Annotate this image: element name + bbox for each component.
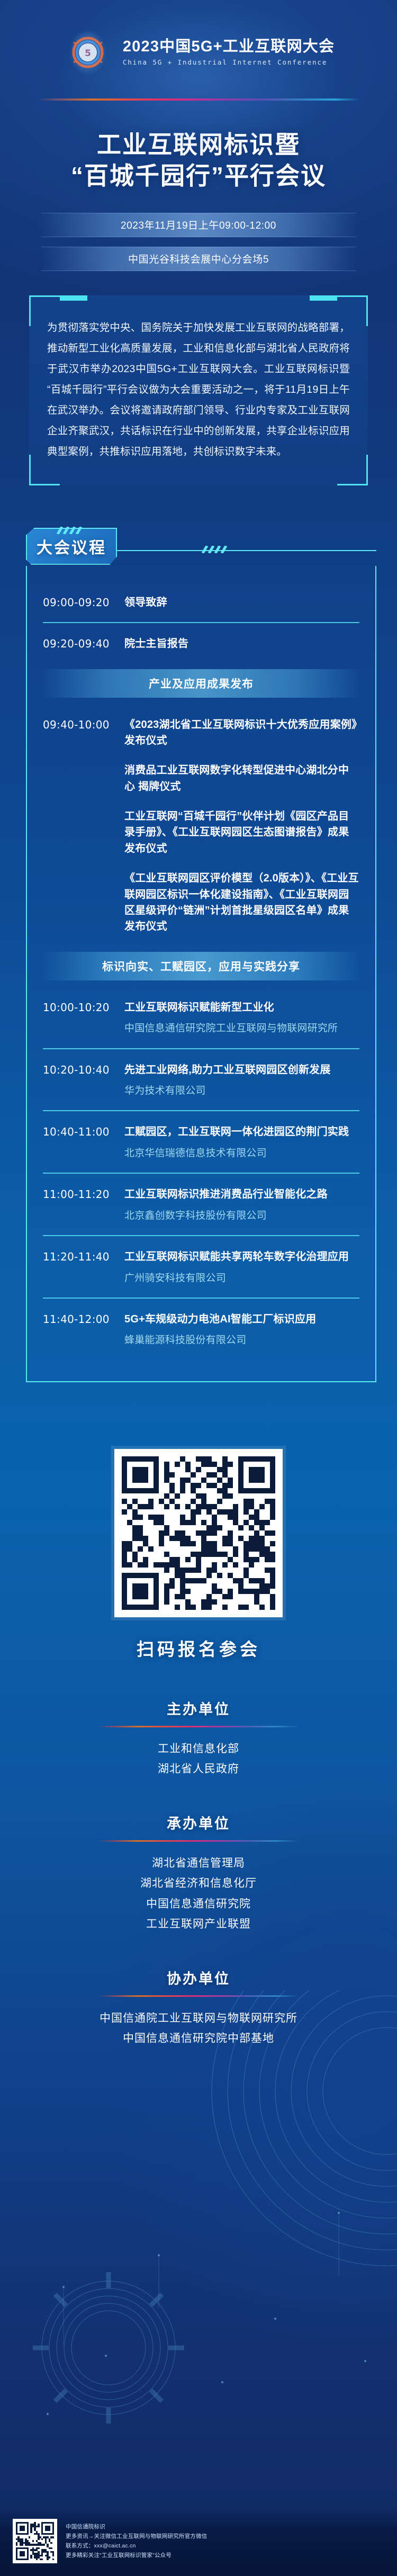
agenda-row-time: 11:20-11:40 — [43, 1249, 113, 1265]
organizer-item: 中国信息通信研究院 — [0, 1894, 397, 1914]
intro-paragraph: 为贯彻落实党中央、国务院关于加快发展工业互联网的战略部署，推动新型工业化高质量发… — [47, 318, 350, 462]
agenda-row-time: 10:20-10:40 — [43, 1062, 113, 1078]
agenda-row-separator — [43, 1048, 359, 1049]
agenda-row-main: 领导致辞 — [124, 595, 359, 610]
poster-footer: 中国信通院标识 更多资讯→关注微信工业互联网与物联网研究所官方微信 联系方式：x… — [0, 2506, 397, 2576]
agenda-row-organization: 北京华信瑞德信息技术有限公司 — [124, 1146, 359, 1161]
agenda-row: 09:20-09:40院士主旨报告 — [41, 623, 362, 663]
intro-frame: 为贯彻落实党中央、国务院关于加快发展工业互联网的战略部署，推动新型工业化高质量发… — [29, 295, 368, 485]
agenda-row-separator — [43, 622, 359, 623]
decorative-gear-icon — [21, 2260, 196, 2435]
agenda-row-title: 《2023湖北省工业互联网标识十大优秀应用案例》发布仪式 — [124, 717, 359, 749]
agenda-row: 11:40-12:005G+车规级动力电池AI智能工厂标识应用蜂巢能源科技股份有… — [41, 1299, 362, 1360]
organizer-item: 中国信息通信研究院中部基地 — [0, 2029, 397, 2049]
agenda-row-title: 工业互联网标识推进消费品行业智能化之路 — [124, 1186, 359, 1202]
agenda-row: 09:40-10:00《2023湖北省工业互联网标识十大优秀应用案例》发布仪式消… — [41, 704, 362, 947]
qr-code-icon — [122, 1456, 275, 1610]
organizer-group: 承办单位湖北省通信管理局湖北省经济和信息化厅中国信息通信研究院工业互联网产业联盟 — [0, 1812, 397, 1934]
agenda-row-time: 10:40-11:00 — [43, 1124, 113, 1140]
organizer-item: 湖北省通信管理局 — [0, 1853, 397, 1874]
agenda-row-time: 09:20-09:40 — [43, 636, 113, 652]
agenda-row: 09:00-09:20领导致辞 — [41, 582, 362, 622]
hatch-right-icon — [201, 546, 232, 553]
header-divider — [37, 98, 360, 101]
agenda-row: 10:00-10:20工业互联网标识赋能新型工业化中国信息通信研究院工业互联网与… — [41, 987, 362, 1048]
agenda-row-organization: 蜂巢能源科技股份有限公司 — [124, 1332, 359, 1348]
event-datetime-badge: 2023年11月19日上午09:00-12:00 — [41, 213, 356, 237]
organizer-group-title: 主办单位 — [0, 1698, 397, 1718]
footer-line-4: 更多精彩关注“工业互联网标识管家”公众号 — [66, 2551, 207, 2560]
organizer-divider — [98, 1726, 299, 1727]
organizer-group: 协办单位中国信通院工业互联网与物联网研究所中国信息通信研究院中部基地 — [0, 1967, 397, 2049]
title-line-1: 工业互联网标识暨 — [0, 129, 397, 160]
agenda-row-title: 先进工业网络,助力工业互联网园区创新发展 — [124, 1062, 359, 1078]
agenda-top-rule — [117, 550, 376, 551]
organizer-item: 工业和信息化部 — [0, 1739, 397, 1759]
agenda-row-title: 工业互联网“百城千园行”伙伴计划《园区产品目录手册》、《工业互联网园区生态图谱报… — [124, 808, 359, 857]
conference-poster: 5 2023中国5G+工业互联网大会 China 5G + Industrial… — [0, 0, 397, 2576]
brand-row: 5 2023中国5G+工业互联网大会 China 5G + Industrial… — [0, 21, 397, 84]
agenda-row-title: 5G+车规级动力电池AI智能工厂标识应用 — [124, 1311, 359, 1327]
organizer-group-title: 承办单位 — [0, 1812, 397, 1833]
event-venue-badge: 中国光谷科技会展中心分会场5 — [41, 247, 356, 271]
agenda-row-time: 09:40-10:00 — [43, 717, 113, 733]
agenda-row-separator — [43, 1110, 359, 1111]
organizer-item: 中国信通院工业互联网与物联网研究所 — [0, 2008, 397, 2029]
agenda-row-separator — [43, 1235, 359, 1236]
qr-caption: 扫码报名参会 — [94, 1635, 303, 1661]
registration-section: 扫码报名参会 — [0, 1433, 397, 1661]
agenda-row-title: 消费品工业互联网数字化转型促进中心湖北分中心 揭牌仪式 — [124, 762, 359, 795]
organizer-item: 湖北省人民政府 — [0, 1759, 397, 1779]
agenda-row: 10:40-11:00工赋园区，工业互联网一体化进园区的荆门实践北京华信瑞德信息… — [41, 1111, 362, 1173]
agenda-row-main: 工赋园区，工业互联网一体化进园区的荆门实践北京华信瑞德信息技术有限公司 — [124, 1124, 359, 1161]
agenda-row: 11:20-11:40工业互联网标识赋能共享两轮车数字化治理应用广州骑安科技有限… — [41, 1236, 362, 1298]
agenda-row-main: 工业互联网标识赋能新型工业化中国信息通信研究院工业互联网与物联网研究所 — [124, 999, 359, 1037]
organizer-divider — [98, 1995, 299, 1997]
agenda-row-title: 工赋园区，工业互联网一体化进园区的荆门实践 — [124, 1124, 359, 1140]
event-meta: 2023年11月19日上午09:00-12:00 中国光谷科技会展中心分会场5 — [0, 213, 397, 271]
footer-qr-code[interactable] — [13, 2519, 57, 2563]
agenda-row-main: 先进工业网络,助力工业互联网园区创新发展华为技术有限公司 — [124, 1062, 359, 1099]
organizer-item: 工业互联网产业联盟 — [0, 1914, 397, 1934]
agenda-section-banner: 产业及应用成果发布 — [41, 669, 362, 698]
agenda-section-banner: 标识向实、工赋园区，应用与实践分享 — [41, 952, 362, 980]
agenda-row: 11:00-11:20工业互联网标识推进消费品行业智能化之路北京鑫创数字科技股份… — [41, 1174, 362, 1235]
organizer-item: 湖北省经济和信息化厅 — [0, 1874, 397, 1894]
organizer-group-title: 协办单位 — [0, 1967, 397, 1988]
brand-text: 2023中国5G+工业互联网大会 China 5G + Industrial I… — [123, 39, 335, 66]
agenda-row-title: 领导致辞 — [124, 595, 359, 610]
organizer-divider — [98, 1840, 299, 1842]
brand-title-en: China 5G + Industrial Internet Conferenc… — [123, 58, 335, 66]
conference-logo: 5 — [62, 21, 113, 84]
agenda-row-title: 工业互联网标识赋能新型工业化 — [124, 999, 359, 1015]
brand-title-cn: 2023中国5G+工业互联网大会 — [123, 39, 335, 56]
agenda-row-title: 工业互联网标识赋能共享两轮车数字化治理应用 — [124, 1249, 359, 1265]
agenda-row-title: 院士主旨报告 — [124, 636, 359, 652]
agenda-row-organization: 北京鑫创数字科技股份有限公司 — [124, 1208, 359, 1223]
footer-text: 中国信通院标识 更多资讯→关注微信工业互联网与物联网研究所官方微信 联系方式：x… — [66, 2522, 207, 2560]
qr-panel: 扫码报名参会 — [94, 1433, 303, 1661]
agenda-row-time: 11:40-12:00 — [43, 1311, 113, 1327]
intro-panel: 为贯彻落实党中央、国务院关于加快发展工业互联网的战略部署，推动新型工业化高质量发… — [29, 295, 368, 485]
agenda-row-main: 工业互联网标识赋能共享两轮车数字化治理应用广州骑安科技有限公司 — [124, 1249, 359, 1286]
agenda-row-organization: 华为技术有限公司 — [124, 1083, 359, 1098]
agenda-row-title: 《工业互联网园区评价模型（2.0版本）》、《工业互联网园区标识一体化建设指南》、… — [124, 870, 359, 935]
agenda-row-main: 《2023湖北省工业互联网标识十大优秀应用案例》发布仪式消费品工业互联网数字化转… — [124, 717, 359, 935]
poster-header: 5 2023中国5G+工业互联网大会 China 5G + Industrial… — [0, 0, 397, 106]
agenda-heading-label: 大会议程 — [37, 535, 106, 558]
notch-right — [310, 295, 337, 301]
organizer-group: 主办单位工业和信息化部湖北省人民政府 — [0, 1698, 397, 1779]
agenda-row-main: 工业互联网标识推进消费品行业智能化之路北京鑫创数字科技股份有限公司 — [124, 1186, 359, 1223]
agenda-row-time: 11:00-11:20 — [43, 1186, 113, 1202]
agenda-row-organization: 广州骑安科技有限公司 — [124, 1271, 359, 1286]
agenda-header: 大会议程 — [21, 527, 376, 566]
footer-line-1: 中国信通院标识 — [66, 2522, 207, 2532]
hatch-left-icon — [56, 527, 87, 534]
agenda-row-main: 5G+车规级动力电池AI智能工厂标识应用蜂巢能源科技股份有限公司 — [124, 1311, 359, 1348]
agenda-row-time: 10:00-10:20 — [43, 999, 113, 1015]
poster-title: 工业互联网标识暨 “百城千园行”平行会议 — [0, 129, 397, 192]
contact-qr-code-icon — [16, 2522, 54, 2560]
organizers-section: 主办单位工业和信息化部湖北省人民政府承办单位湖北省通信管理局湖北省经济和信息化厅… — [0, 1698, 397, 2049]
agenda-row-main: 院士主旨报告 — [124, 636, 359, 652]
agenda-body: 09:00-09:20领导致辞09:20-09:40院士主旨报告产业及应用成果发… — [26, 566, 376, 1382]
footer-line-3: 联系方式：xxx@caict.ac.cn — [66, 2541, 207, 2551]
agenda-row-time: 09:00-09:20 — [43, 595, 113, 610]
agenda-row: 10:20-10:40先进工业网络,助力工业互联网园区创新发展华为技术有限公司 — [41, 1049, 362, 1111]
registration-qr-code[interactable] — [114, 1449, 283, 1617]
footer-line-2: 更多资讯→关注微信工业互联网与物联网研究所官方微信 — [66, 2532, 207, 2541]
notch-left — [60, 295, 87, 301]
agenda-section: 大会议程 09:00-09:20领导致辞09:20-09:40院士主旨报告产业及… — [21, 527, 376, 1382]
title-line-2: “百城千园行”平行会议 — [0, 160, 397, 192]
agenda-row-separator — [43, 1298, 359, 1299]
agenda-row-organization: 中国信息通信研究院工业互联网与物联网研究所 — [124, 1021, 359, 1036]
agenda-row-separator — [43, 1173, 359, 1174]
